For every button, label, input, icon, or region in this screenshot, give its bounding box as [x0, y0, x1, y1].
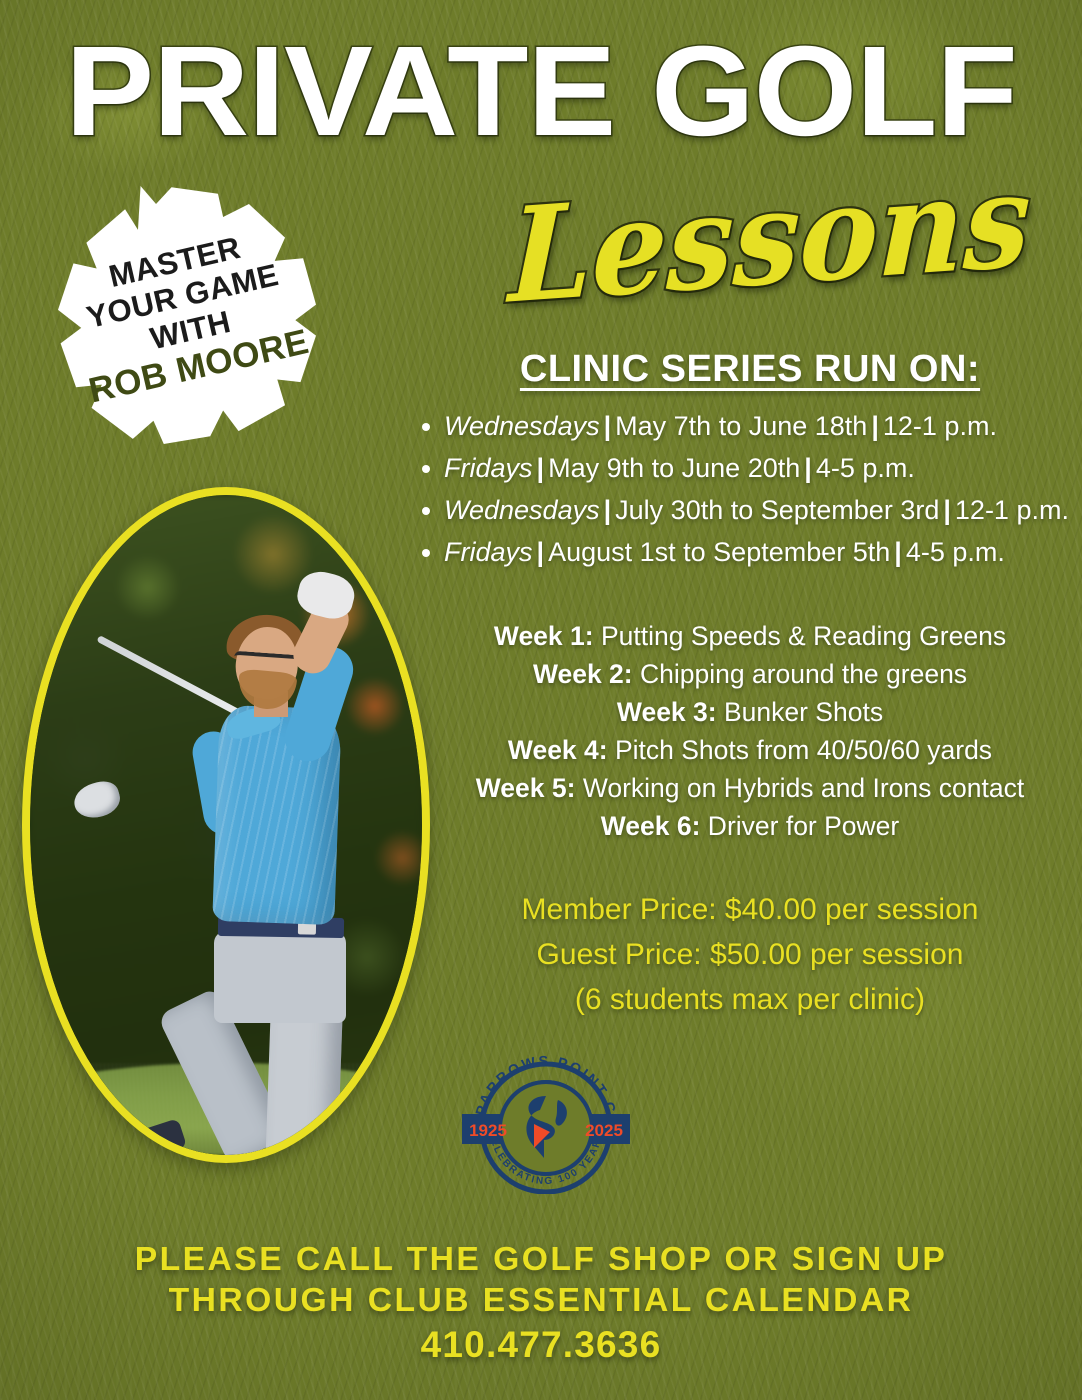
week-topic: Bunker Shots — [717, 697, 883, 727]
schedule-separator: | — [533, 537, 549, 567]
weekly-topics-list: Week 1: Putting Speeds & Reading GreensW… — [418, 617, 1082, 845]
week-item: Week 5: Working on Hybrids and Irons con… — [418, 769, 1082, 807]
schedule-dates: July 30th to September 3rd — [615, 495, 939, 525]
week-topic: Working on Hybrids and Irons contact — [575, 773, 1024, 803]
club-logo-svg: SPARROWS POINT CC CELEBRATING 100 YEARS … — [458, 1052, 634, 1194]
schedule-dates: May 7th to June 18th — [615, 411, 867, 441]
golfer-trousers — [214, 931, 346, 1023]
pricing-block: Member Price: $40.00 per session Guest P… — [418, 887, 1082, 1022]
class-size-note: (6 students max per clinic) — [418, 977, 1082, 1022]
schedule-separator: | — [600, 411, 616, 441]
golfer-photo-frame — [22, 487, 430, 1163]
schedule-separator: | — [533, 453, 549, 483]
week-topic: Putting Speeds & Reading Greens — [594, 621, 1006, 651]
week-label: Week 4: — [508, 735, 608, 765]
schedule-day: Fridays — [444, 453, 533, 483]
badge-text-group: MASTER YOUR GAME WITH ROB MOORE — [32, 160, 341, 469]
week-topic: Pitch Shots from 40/50/60 yards — [608, 735, 992, 765]
phone-number[interactable]: 410.477.3636 — [0, 1320, 1082, 1370]
cta-line-1: PLEASE CALL THE GOLF SHOP OR SIGN UP — [0, 1238, 1082, 1279]
week-label: Week 5: — [476, 773, 576, 803]
schedule-item: Fridays|May 9th to June 20th|4-5 p.m. — [444, 447, 1082, 489]
week-label: Week 1: — [494, 621, 594, 651]
week-label: Week 6: — [601, 811, 701, 841]
schedule-time: 4-5 p.m. — [816, 453, 915, 483]
week-item: Week 6: Driver for Power — [418, 807, 1082, 845]
schedule-dates: August 1st to September 5th — [548, 537, 890, 567]
week-item: Week 1: Putting Speeds & Reading Greens — [418, 617, 1082, 655]
golfer-photo — [30, 495, 422, 1155]
guest-price: Guest Price: $50.00 per session — [418, 932, 1082, 977]
schedule-time: 12-1 p.m. — [883, 411, 997, 441]
week-label: Week 3: — [617, 697, 717, 727]
schedule-separator: | — [867, 411, 883, 441]
cta-line-2: THROUGH CLUB ESSENTIAL CALENDAR — [0, 1279, 1082, 1320]
schedule-day: Fridays — [444, 537, 533, 567]
schedule-item: Wednesdays|July 30th to September 3rd|12… — [444, 489, 1082, 531]
schedule-separator: | — [939, 495, 955, 525]
club-logo: SPARROWS POINT CC CELEBRATING 100 YEARS … — [458, 1052, 634, 1194]
member-price: Member Price: $40.00 per session — [418, 887, 1082, 932]
clinic-series-heading: CLINIC SERIES RUN ON: — [418, 348, 1082, 391]
week-item: Week 3: Bunker Shots — [418, 693, 1082, 731]
week-topic: Driver for Power — [700, 811, 899, 841]
logo-year-left: 1925 — [469, 1121, 507, 1140]
schedule-dates: May 9th to June 20th — [548, 453, 800, 483]
golf-lessons-flyer: PRIVATE GOLF Lessons MASTER YOUR GAME WI… — [0, 0, 1082, 1400]
week-item: Week 4: Pitch Shots from 40/50/60 yards — [418, 731, 1082, 769]
week-item: Week 2: Chipping around the greens — [418, 655, 1082, 693]
week-topic: Chipping around the greens — [633, 659, 967, 689]
week-label: Week 2: — [533, 659, 633, 689]
content-column: CLINIC SERIES RUN ON: Wednesdays|May 7th… — [418, 0, 1082, 1022]
call-to-action: PLEASE CALL THE GOLF SHOP OR SIGN UP THR… — [0, 1238, 1082, 1370]
schedule-item: Wednesdays|May 7th to June 18th|12-1 p.m… — [444, 405, 1082, 447]
schedule-item: Fridays|August 1st to September 5th|4-5 … — [444, 531, 1082, 573]
logo-year-right: 2025 — [585, 1121, 623, 1140]
schedule-day: Wednesdays — [444, 495, 600, 525]
schedule-separator: | — [600, 495, 616, 525]
clinic-schedule-list: Wednesdays|May 7th to June 18th|12-1 p.m… — [418, 405, 1082, 573]
schedule-time: 4-5 p.m. — [906, 537, 1005, 567]
schedule-time: 12-1 p.m. — [955, 495, 1069, 525]
schedule-separator: | — [800, 453, 816, 483]
schedule-separator: | — [890, 537, 906, 567]
schedule-day: Wednesdays — [444, 411, 600, 441]
